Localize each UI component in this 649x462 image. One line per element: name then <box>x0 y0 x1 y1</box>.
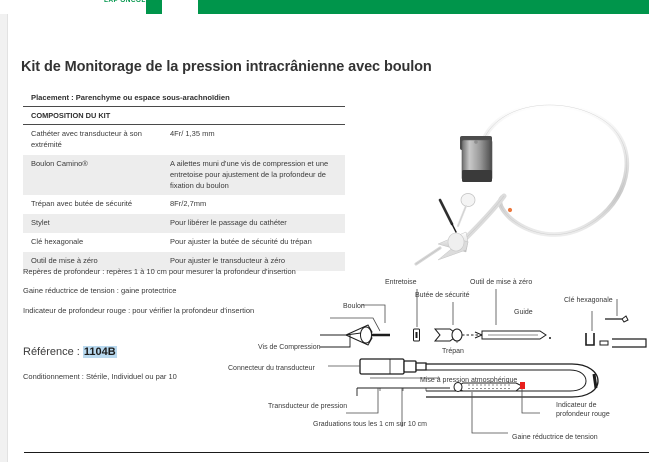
leader-indicateur <box>522 389 540 413</box>
bolt-component <box>416 232 468 264</box>
label-graduations: Graduations tous les 1 cm sur 10 cm <box>313 421 427 430</box>
page-title: Kit de Monitorage de la pression intracr… <box>21 59 432 75</box>
row-label: Boulon Camino® <box>23 155 168 196</box>
reference-line: Référence : 1104B <box>23 346 117 358</box>
row-label: Clé hexagonale <box>23 233 168 252</box>
label-indicateur-l1: Indicateur de <box>556 402 596 411</box>
top-banner: LAP ONCOLOGY <box>0 0 649 14</box>
product-photo <box>400 92 649 270</box>
label-guide: Guide <box>514 309 533 318</box>
table-row: Trépan avec butée de sécurité 8Fr/2,7mm <box>23 195 345 214</box>
row-value: 4Fr/ 1,35 mm <box>168 125 345 155</box>
table-row: Cathéter avec transducteur à son extrémi… <box>23 125 345 155</box>
label-gaine: Gaine réductrice de tension <box>512 434 598 443</box>
label-indicateur-l2: profondeur rouge <box>556 411 610 420</box>
table-row: Stylet Pour libérer le passage du cathét… <box>23 214 345 233</box>
table-row: Boulon Camino® A ailettes muni d'une vis… <box>23 155 345 196</box>
label-vis-compression: Vis de Compression <box>258 344 321 353</box>
red-depth-indicator <box>520 382 525 389</box>
label-butee: Butée de sécurité <box>415 292 469 301</box>
row-value: 8Fr/2,7mm <box>168 195 345 214</box>
connector-block <box>460 136 492 182</box>
banner-green-bar <box>198 0 649 14</box>
row-label: Stylet <box>23 214 168 233</box>
label-entretoise: Entretoise <box>385 279 417 288</box>
reference-label: Référence : <box>23 346 83 358</box>
schematic-entretoise <box>414 329 420 341</box>
schematic-cle-hexagonale <box>605 316 628 322</box>
label-cle-hex: Clé hexagonale <box>564 297 613 306</box>
leader-boulon <box>362 305 385 323</box>
stylet-component <box>440 200 456 232</box>
label-boulon: Boulon <box>343 303 365 312</box>
banner-wordmark: LAP ONCOLOGY <box>104 0 190 6</box>
bottom-divider <box>24 452 649 453</box>
label-connecteur: Connecteur du transducteur <box>228 365 315 374</box>
table-header-label: COMPOSITION DU KIT <box>23 107 345 125</box>
placement-text: Placement : Parenchyme ou espace sous-ar… <box>23 90 345 107</box>
label-trepan: Trépan <box>442 348 464 357</box>
schematic-boulon <box>320 325 390 347</box>
label-outil-zero: Outil de mise à zéro <box>470 279 532 288</box>
row-value: Pour ajuster la butée de sécurité du tré… <box>168 233 345 252</box>
leader-vis <box>330 318 380 331</box>
composition-table: Placement : Parenchyme ou espace sous-ar… <box>23 90 345 271</box>
table-row-placement: Placement : Parenchyme ou espace sous-ar… <box>23 90 345 107</box>
table-header-row: COMPOSITION DU KIT <box>23 107 345 125</box>
leader-gaine <box>472 392 508 433</box>
schematic-outil-zero <box>482 331 551 339</box>
row-value: Pour libérer le passage du cathéter <box>168 214 345 233</box>
label-mise-pression: Mise à pression atmosphérique <box>420 377 517 386</box>
row-value: A ailettes muni d'une vis de compression… <box>168 155 345 196</box>
page-edge-strip <box>0 0 8 462</box>
schematic-trepan <box>435 329 482 341</box>
table-row: Clé hexagonale Pour ajuster la butée de … <box>23 233 345 252</box>
label-transducteur: Transducteur de pression <box>268 403 347 412</box>
leader-transducteur <box>346 388 378 413</box>
row-label: Cathéter avec transducteur à son extrémi… <box>23 125 168 155</box>
zeroing-tool-component <box>458 194 475 227</box>
reference-value[interactable]: 1104B <box>83 346 117 358</box>
conditioning-line: Conditionnement : Stérile, Individuel ou… <box>23 372 177 381</box>
schematic-guide <box>586 333 646 347</box>
row-label: Trépan avec butée de sécurité <box>23 195 168 214</box>
